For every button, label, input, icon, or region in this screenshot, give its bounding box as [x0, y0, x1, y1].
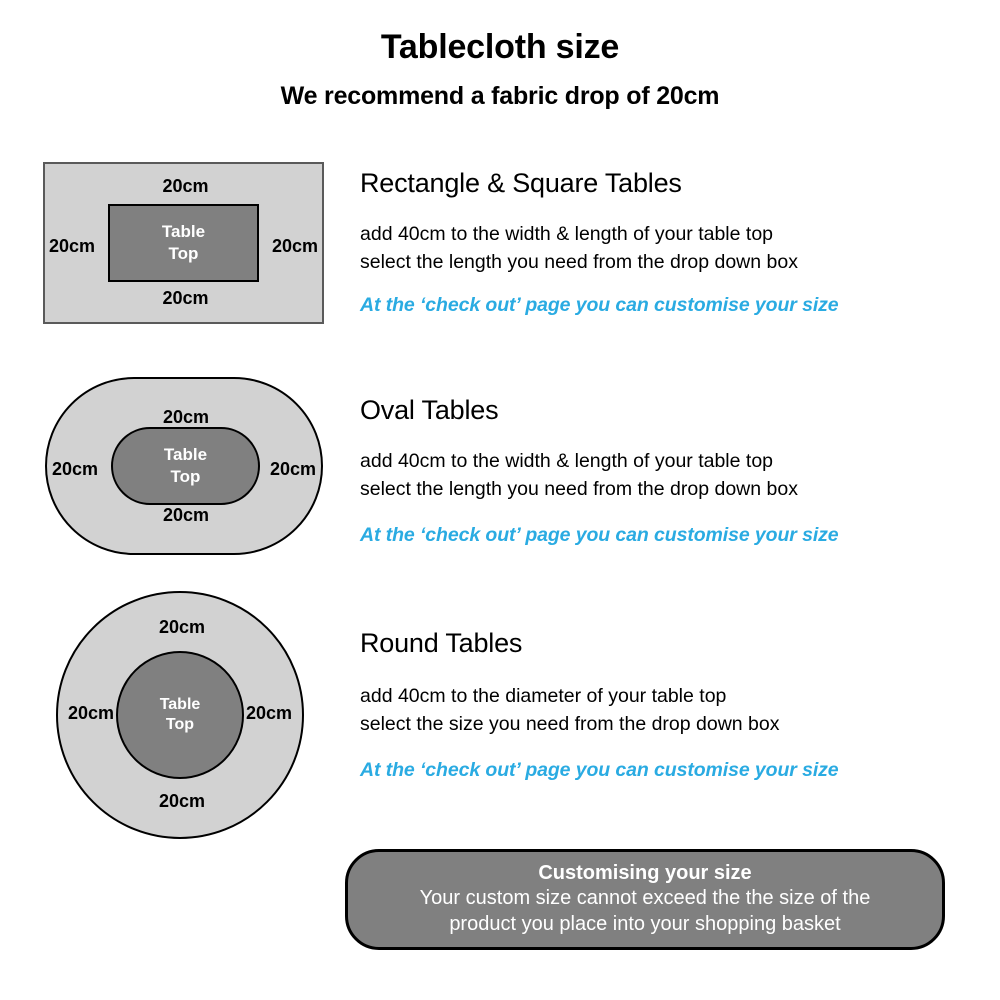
oval-table-diagram: 20cm 20cm 20cm 20cm Table Top	[45, 377, 323, 555]
rectangle-drop-left-label: 20cm	[49, 237, 95, 255]
oval-body-line-1: add 40cm to the width & length of your t…	[360, 448, 839, 476]
oval-checkout-note: At the ‘check out’ page you can customis…	[360, 524, 839, 547]
rectangle-section-heading: Rectangle & Square Tables	[360, 168, 839, 199]
rectangle-drop-top-label: 20cm	[45, 177, 326, 195]
round-table-top: Table Top	[116, 651, 244, 779]
oval-table-top-label: Table Top	[113, 429, 258, 503]
round-section-heading: Round Tables	[360, 628, 839, 659]
round-body-line-2: select the size you need from the drop d…	[360, 711, 839, 739]
oval-section-heading: Oval Tables	[360, 395, 839, 426]
round-table-diagram: 20cm 20cm 20cm 20cm Table Top	[56, 591, 304, 839]
round-section-text: Round Tables add 40cm to the diameter of…	[360, 628, 839, 782]
top-word: Top	[169, 243, 199, 265]
rectangle-body-line-2: select the length you need from the drop…	[360, 249, 839, 277]
rectangle-body-line-1: add 40cm to the width & length of your t…	[360, 221, 839, 249]
oval-body-line-2: select the length you need from the drop…	[360, 476, 839, 504]
rectangle-drop-right-label: 20cm	[272, 237, 318, 255]
oval-drop-left-label: 20cm	[52, 460, 98, 478]
table-word: Table	[164, 444, 207, 466]
page-subtitle: We recommend a fabric drop of 20cm	[0, 82, 1000, 111]
rectangle-checkout-note: At the ‘check out’ page you can customis…	[360, 294, 839, 317]
round-drop-right-label: 20cm	[246, 704, 292, 722]
oval-table-top: Table Top	[111, 427, 260, 505]
oval-section-text: Oval Tables add 40cm to the width & leng…	[360, 395, 839, 547]
top-word: Top	[166, 715, 194, 735]
table-word: Table	[160, 695, 201, 715]
round-checkout-note: At the ‘check out’ page you can customis…	[360, 759, 839, 782]
tablecloth-size-infographic: Tablecloth size We recommend a fabric dr…	[0, 0, 1000, 1000]
round-drop-top-label: 20cm	[58, 618, 306, 636]
custom-box-line-2: product you place into your shopping bas…	[449, 912, 840, 938]
round-drop-bottom-label: 20cm	[58, 792, 306, 810]
table-word: Table	[162, 221, 205, 243]
round-body-line-1: add 40cm to the diameter of your table t…	[360, 683, 839, 711]
rectangle-table-diagram: 20cm 20cm 20cm 20cm Table Top	[43, 162, 324, 324]
rectangle-table-top-label: Table Top	[110, 206, 257, 280]
page-title: Tablecloth size	[0, 28, 1000, 67]
oval-drop-right-label: 20cm	[270, 460, 316, 478]
rectangle-table-top: Table Top	[108, 204, 259, 282]
rectangle-drop-bottom-label: 20cm	[45, 289, 326, 307]
oval-drop-bottom-label: 20cm	[47, 506, 325, 524]
custom-box-title: Customising your size	[538, 861, 751, 885]
round-drop-left-label: 20cm	[68, 704, 114, 722]
top-word: Top	[171, 466, 201, 488]
custom-box-line-1: Your custom size cannot exceed the the s…	[420, 886, 871, 912]
oval-drop-top-label: 20cm	[47, 408, 325, 426]
customising-your-size-callout: Customising your size Your custom size c…	[345, 849, 945, 950]
rectangle-section-text: Rectangle & Square Tables add 40cm to th…	[360, 168, 839, 317]
round-table-top-label: Table Top	[118, 653, 242, 777]
